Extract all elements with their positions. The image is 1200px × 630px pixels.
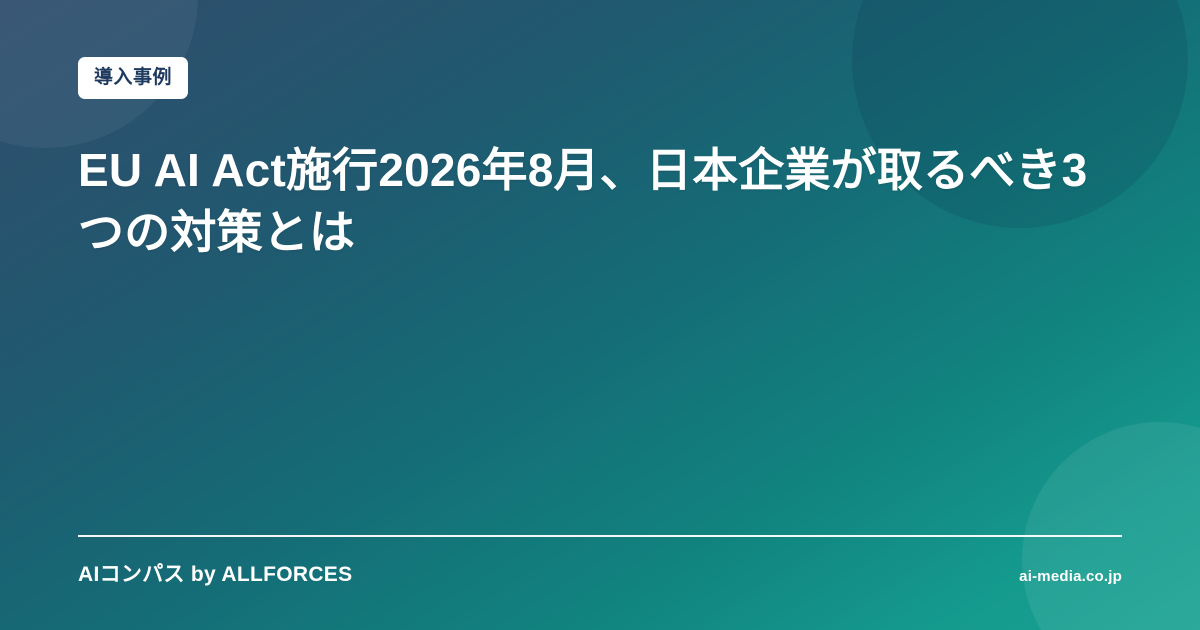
og-image-card: 導入事例 EU AI Act施行2026年8月、日本企業が取るべき3つの対策とは… — [0, 0, 1200, 630]
category-badge: 導入事例 — [78, 57, 188, 99]
card-footer: AIコンパス by ALLFORCES ai-media.co.jp — [78, 535, 1122, 588]
footer-row: AIコンパス by ALLFORCES ai-media.co.jp — [78, 558, 1122, 588]
site-name: AIコンパス by ALLFORCES — [78, 558, 352, 588]
footer-divider — [78, 535, 1122, 537]
site-url: ai-media.co.jp — [1019, 568, 1122, 585]
page-title: EU AI Act施行2026年8月、日本企業が取るべき3つの対策とは — [78, 139, 1108, 263]
